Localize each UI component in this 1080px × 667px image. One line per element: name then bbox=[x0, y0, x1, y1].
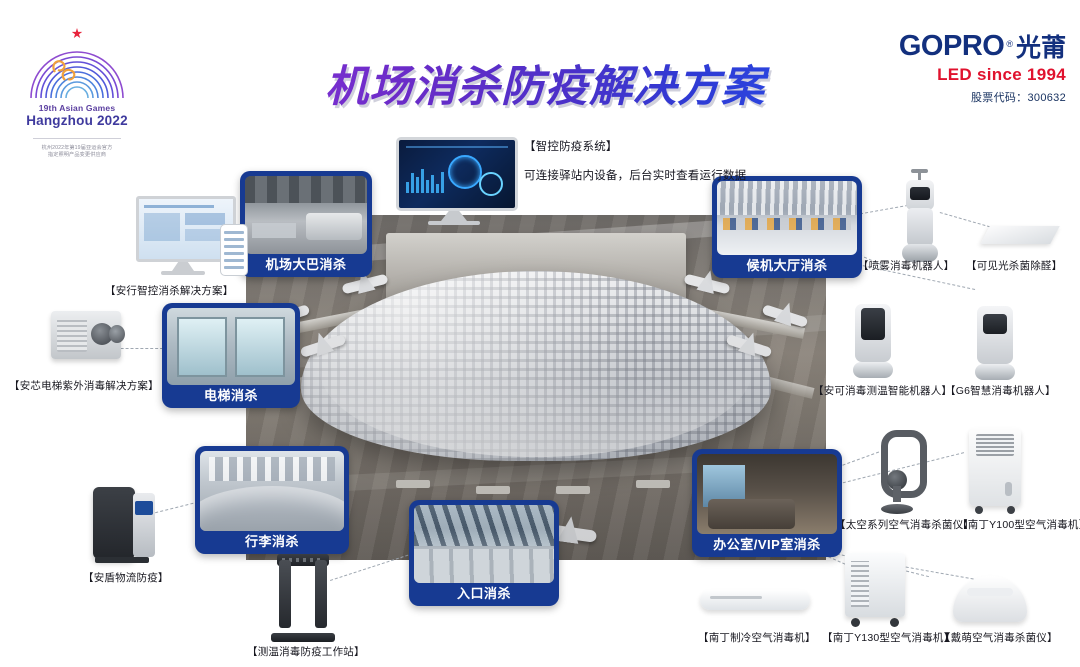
asian-games-event-name: 19th Asian Games bbox=[18, 103, 136, 113]
device-nanding-cooling bbox=[700, 580, 810, 614]
panel-baggage[interactable]: 行李消杀 bbox=[195, 446, 349, 554]
device-logistics-cabinet bbox=[93, 481, 155, 563]
light-panel-icon bbox=[985, 222, 1055, 248]
star-icon bbox=[18, 28, 136, 44]
panel-caption: 电梯消杀 bbox=[167, 385, 295, 408]
panel-caption: 入口消杀 bbox=[414, 583, 554, 606]
flat-air-disinfector-icon bbox=[700, 580, 810, 614]
device-nanding-y130 bbox=[845, 553, 905, 627]
device-spray-robot bbox=[897, 172, 943, 264]
asian-games-fine-print-1: 杭州2022年第19届亚运会官方 bbox=[18, 145, 136, 153]
device-label-nanding-y130: 【南丁Y130型空气消毒机】 bbox=[822, 630, 954, 645]
infographic-canvas: 19th Asian Games Hangzhou 2022 杭州2022年第1… bbox=[0, 0, 1080, 667]
desktop-computer-icon bbox=[136, 196, 230, 270]
device-temperature-gate bbox=[271, 552, 335, 642]
asian-games-fan-icon bbox=[25, 46, 129, 100]
device-label-space-fan: 【太空系列空气消毒杀菌仪】 bbox=[835, 517, 974, 532]
system-note-heading: 【智控防疫系统】 bbox=[524, 138, 854, 154]
panel-caption: 办公室/VIP室消杀 bbox=[697, 534, 837, 557]
dashboard-bars-icon bbox=[406, 165, 444, 194]
device-nanding-y100 bbox=[969, 428, 1021, 514]
device-g6-robot bbox=[973, 302, 1017, 380]
smartphone-icon bbox=[220, 224, 248, 276]
device-space-air-sterilizer bbox=[875, 430, 919, 514]
panel-airport-bus[interactable]: 机场大巴消杀 bbox=[240, 171, 372, 277]
device-label-anke-robot: 【安可消毒测温智能机器人】 bbox=[813, 383, 952, 398]
panel-caption: 行李消杀 bbox=[200, 531, 344, 554]
device-anke-robot bbox=[851, 300, 895, 378]
brand-logo: GOPRO ® 光莆 LED since 1994 股票代码：300632 bbox=[861, 32, 1066, 105]
device-label-temp-gate: 【测温消毒防疫工作站】 bbox=[247, 644, 365, 659]
panel-photo bbox=[717, 181, 857, 255]
divider bbox=[33, 138, 121, 139]
panel-photo bbox=[697, 454, 837, 534]
panel-waiting-hall[interactable]: 候机大厅消杀 bbox=[712, 176, 862, 278]
device-label-light-panel: 【可见光杀菌除醛】 bbox=[966, 258, 1062, 273]
device-elevator-uv-unit bbox=[51, 311, 121, 359]
bladeless-fan-icon bbox=[875, 430, 919, 514]
page-title: 机场消杀防疫解决方案 bbox=[305, 52, 785, 114]
monitor-icon bbox=[396, 137, 512, 215]
logistics-cabinet-icon bbox=[93, 481, 155, 563]
asian-games-logo: 19th Asian Games Hangzhou 2022 杭州2022年第1… bbox=[18, 28, 136, 160]
device-label-daimeng: 【戴萌空气消毒杀菌仪】 bbox=[940, 630, 1058, 645]
device-label-nanding-y100: 【南丁Y100型空气消毒机】 bbox=[957, 517, 1080, 532]
round-air-sterilizer-icon bbox=[953, 568, 1027, 626]
security-gate-icon bbox=[271, 552, 335, 642]
panel-caption: 候机大厅消杀 bbox=[717, 255, 857, 278]
panel-elevator[interactable]: 电梯消杀 bbox=[162, 303, 300, 408]
panel-photo bbox=[245, 176, 367, 254]
dashboard-gauge-small-icon bbox=[479, 172, 503, 196]
panel-photo bbox=[167, 308, 295, 385]
brand-name-cn: 光莆 bbox=[1016, 36, 1066, 61]
device-daimeng-sterilizer bbox=[953, 568, 1027, 626]
dashboard-gauge-icon bbox=[448, 155, 482, 189]
device-smart-control-monitor bbox=[396, 137, 512, 215]
g6-robot-icon bbox=[973, 302, 1017, 380]
panel-caption: 机场大巴消杀 bbox=[245, 254, 367, 277]
asian-games-city-year: Hangzhou 2022 bbox=[18, 113, 136, 129]
device-label-g6-robot: 【G6智慧消毒机器人】 bbox=[945, 383, 1056, 398]
uv-disinfection-box-icon bbox=[51, 311, 121, 359]
spray-robot-icon bbox=[897, 172, 943, 264]
device-label-elevator-uv: 【安芯电梯紫外消毒解决方案】 bbox=[9, 378, 159, 393]
device-label-logistics: 【安盾物流防疫】 bbox=[83, 570, 169, 585]
registered-mark-icon: ® bbox=[1006, 40, 1013, 49]
panel-photo bbox=[200, 451, 344, 531]
system-note-description: 可连接驿站内设备，后台实时查看运行数据 bbox=[524, 167, 854, 183]
brand-tagline: LED since 1994 bbox=[861, 65, 1066, 85]
tall-air-disinfector-icon bbox=[845, 553, 905, 627]
device-anxing-console bbox=[118, 196, 248, 270]
device-label-anxing-console: 【安行智控消杀解决方案】 bbox=[105, 283, 233, 298]
temperature-robot-icon bbox=[851, 300, 895, 378]
air-disinfector-icon bbox=[969, 428, 1021, 514]
asian-games-fine-print-2: 指定照明产品变更供应商 bbox=[18, 152, 136, 160]
brand-name: GOPRO bbox=[899, 32, 1004, 61]
device-light-panel bbox=[985, 222, 1055, 248]
panel-photo bbox=[414, 505, 554, 583]
panel-entrance[interactable]: 入口消杀 bbox=[409, 500, 559, 606]
device-label-nanding-cool: 【南丁制冷空气消毒机】 bbox=[698, 630, 816, 645]
brand-stock-code: 股票代码：300632 bbox=[861, 89, 1066, 105]
panel-office-vip[interactable]: 办公室/VIP室消杀 bbox=[692, 449, 842, 557]
system-note: 【智控防疫系统】 可连接驿站内设备，后台实时查看运行数据 bbox=[524, 138, 854, 183]
device-label-spray-robot: 【喷雾消毒机器人】 bbox=[858, 258, 954, 273]
